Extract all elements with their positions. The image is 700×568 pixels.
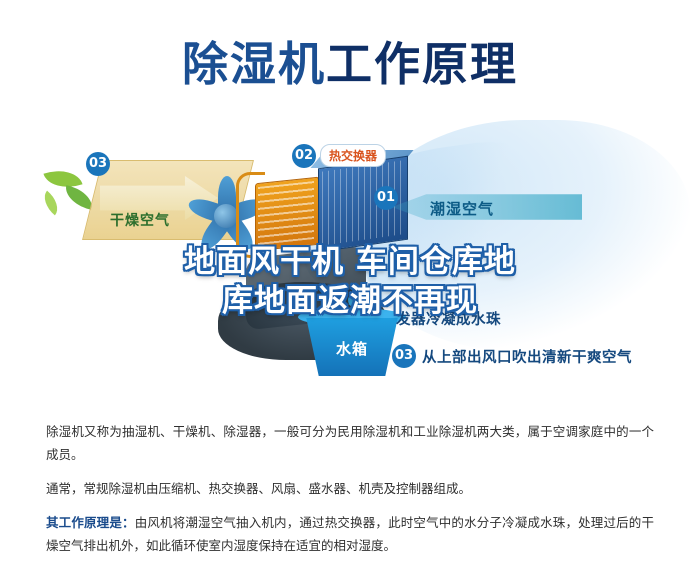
heat-exchanger-label: 热交换器 bbox=[320, 144, 386, 167]
hero-title: 除湿机工作原理 bbox=[0, 28, 700, 94]
step-badge-03-bottom: 03 bbox=[392, 344, 416, 368]
paragraph-2: 通常，常规除湿机由压缩机、热交换器、风扇、盛水器、机壳及控制器组成。 bbox=[46, 477, 654, 500]
caption-blowout: 从上部出风口吹出清新干爽空气 bbox=[422, 346, 632, 367]
overlay-headline-line1: 地面风干机 车间仓库地 bbox=[0, 243, 700, 282]
hero-title-part2: 工作原理 bbox=[326, 37, 518, 91]
condenser-coil-fins bbox=[258, 181, 314, 245]
article-body: 除湿机又称为抽湿机、干燥机、除湿器，一般可分为民用除湿机和工业除湿机两大类，属于… bbox=[0, 404, 700, 568]
overlay-headline-line2: 库地面返潮不再现 bbox=[0, 282, 700, 321]
humid-air-label: 潮湿空气 bbox=[430, 198, 494, 219]
leaf-icon bbox=[38, 191, 64, 216]
hero-illustration: 除湿机工作原理 干燥空气 热交换器 bbox=[0, 0, 700, 404]
water-tank-label: 水箱 bbox=[300, 338, 404, 359]
step-badge-02: 02 bbox=[292, 144, 316, 168]
overlay-headline: 地面风干机 车间仓库地 库地面返潮不再现 bbox=[0, 243, 700, 321]
dry-air-label: 干燥空气 bbox=[110, 210, 170, 230]
paragraph-3-label: 其工作原理是： bbox=[46, 515, 135, 530]
step-badge-03: 03 bbox=[86, 152, 110, 176]
paragraph-3-text: 由风机将潮湿空气抽入机内，通过热交换器，此时空气中的水分子冷凝成水珠，处理过后的… bbox=[46, 515, 654, 553]
page-root: 除湿机工作原理 干燥空气 热交换器 bbox=[0, 0, 700, 566]
step-badge-01: 01 bbox=[374, 186, 398, 210]
paragraph-3: 其工作原理是：由风机将潮湿空气抽入机内，通过热交换器，此时空气中的水分子冷凝成水… bbox=[46, 511, 654, 557]
paragraph-1: 除湿机又称为抽湿机、干燥机、除湿器，一般可分为民用除湿机和工业除湿机两大类，属于… bbox=[46, 420, 654, 466]
hero-title-part1: 除湿机 bbox=[182, 37, 326, 91]
